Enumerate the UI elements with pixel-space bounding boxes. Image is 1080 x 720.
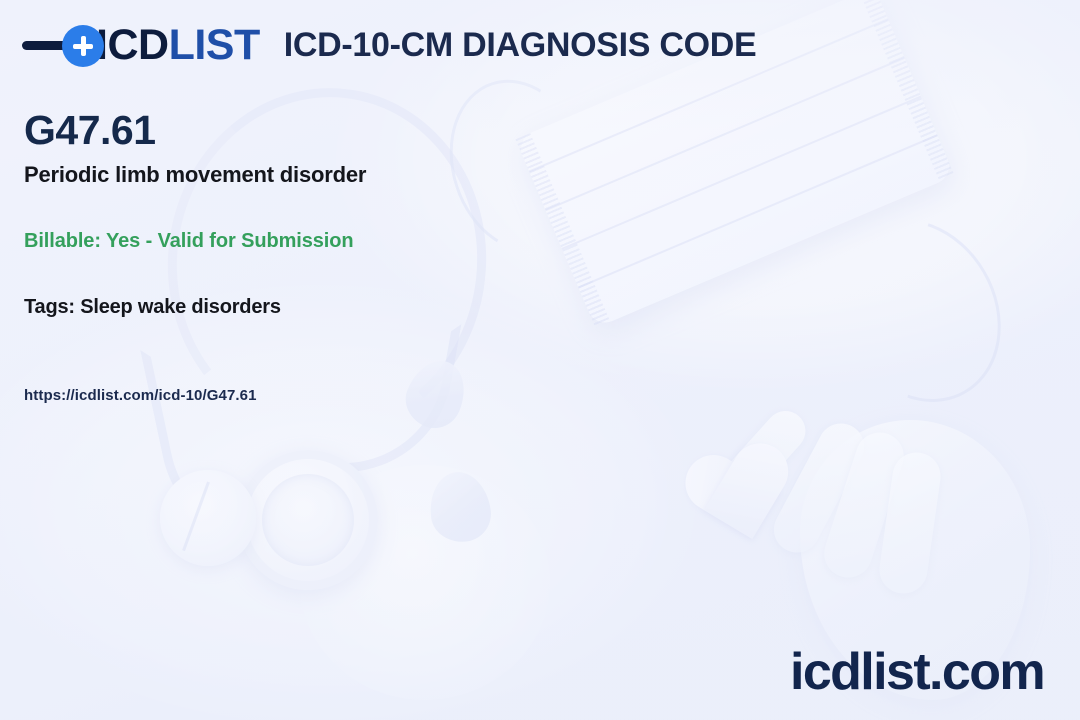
billable-status-badge: Billable: Yes - Valid for Submission xyxy=(24,230,366,253)
tags-label: Tags: Sleep wake disorders xyxy=(24,296,366,319)
diagnosis-code-description: Periodic limb movement disorder xyxy=(24,161,366,189)
icdlist-logo[interactable]: ICDLIST xyxy=(22,24,260,67)
card-content: ICDLIST ICD-10-CM DIAGNOSIS CODE G47.61 … xyxy=(0,0,1080,720)
diagnosis-code-block: G47.61 Periodic limb movement disorder B… xyxy=(24,108,366,404)
page-title: ICD-10-CM DIAGNOSIS CODE xyxy=(284,26,757,65)
icd-code-card: ICDLIST ICD-10-CM DIAGNOSIS CODE G47.61 … xyxy=(0,0,1080,720)
card-header: ICDLIST ICD-10-CM DIAGNOSIS CODE xyxy=(22,24,756,67)
diagnosis-code-value: G47.61 xyxy=(24,108,366,153)
permalink-url[interactable]: https://icdlist.com/icd-10/G47.61 xyxy=(24,387,366,404)
site-watermark: icdlist.com xyxy=(790,646,1044,698)
brand-name-icd: ICD xyxy=(96,21,169,69)
brand-wordmark: ICDLIST xyxy=(96,24,260,67)
brand-name-list: LIST xyxy=(169,21,260,69)
plus-circle-icon xyxy=(62,25,104,67)
